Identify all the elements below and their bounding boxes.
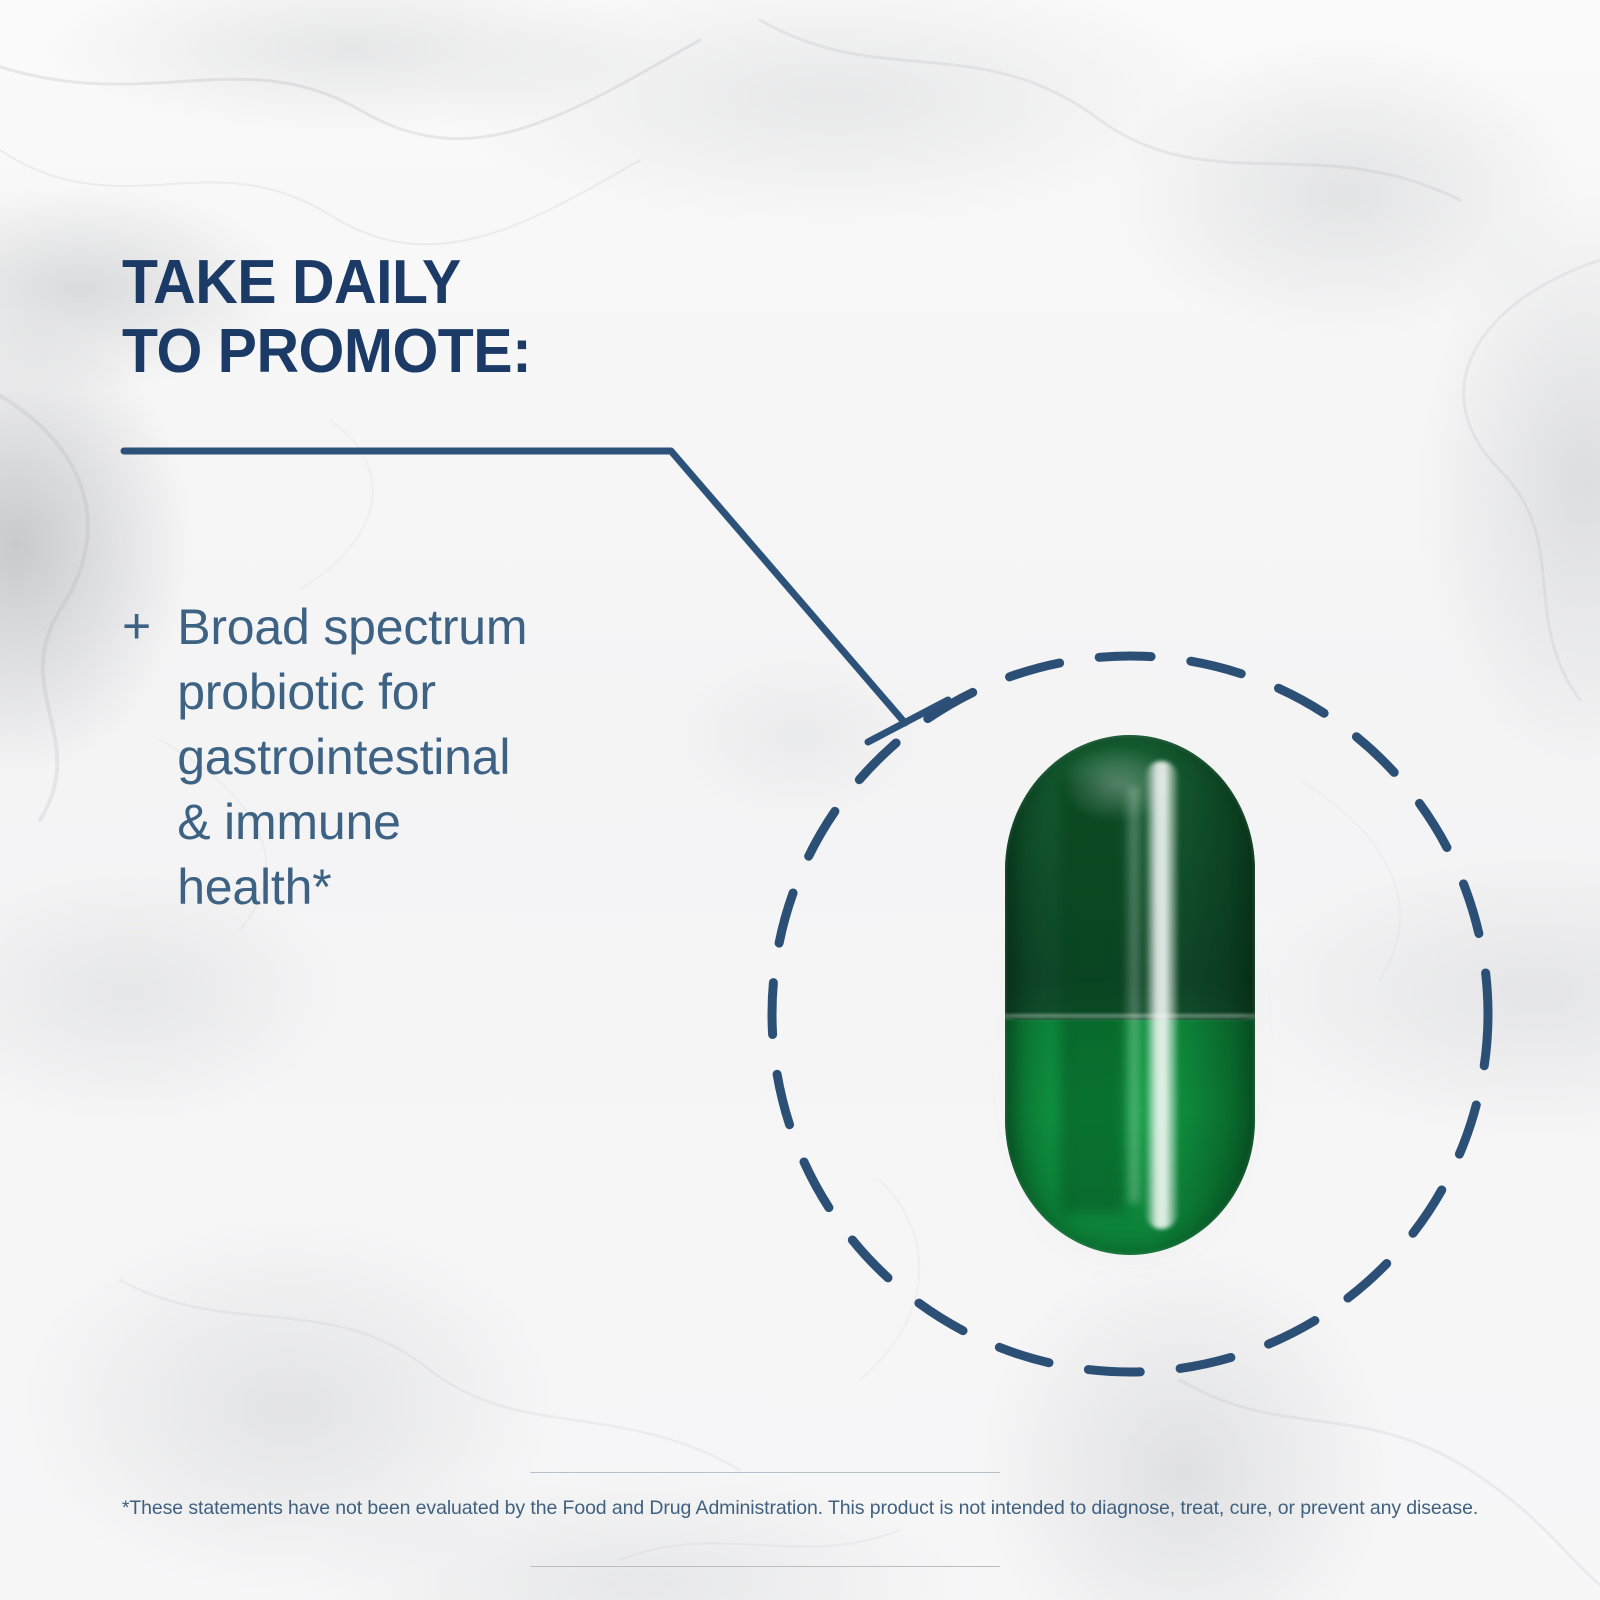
product-infographic: TAKE DAILY TO PROMOTE: + Broad spectrum … bbox=[0, 0, 1600, 1600]
footer-divider-top bbox=[530, 1472, 1000, 1473]
benefit-item: + Broad spectrum probiotic for gastroint… bbox=[122, 595, 527, 920]
page-title: TAKE DAILY TO PROMOTE: bbox=[122, 248, 531, 387]
benefit-text: Broad spectrum probiotic for gastrointes… bbox=[177, 595, 527, 920]
capsule-image bbox=[1005, 735, 1255, 1255]
capsule-shell bbox=[1005, 735, 1255, 1255]
footer-divider-bottom bbox=[530, 1566, 1000, 1567]
plus-icon: + bbox=[122, 597, 151, 656]
footer-disclaimer: *These statements have not been evaluate… bbox=[0, 1497, 1600, 1520]
capsule-rim bbox=[1005, 735, 1255, 1255]
